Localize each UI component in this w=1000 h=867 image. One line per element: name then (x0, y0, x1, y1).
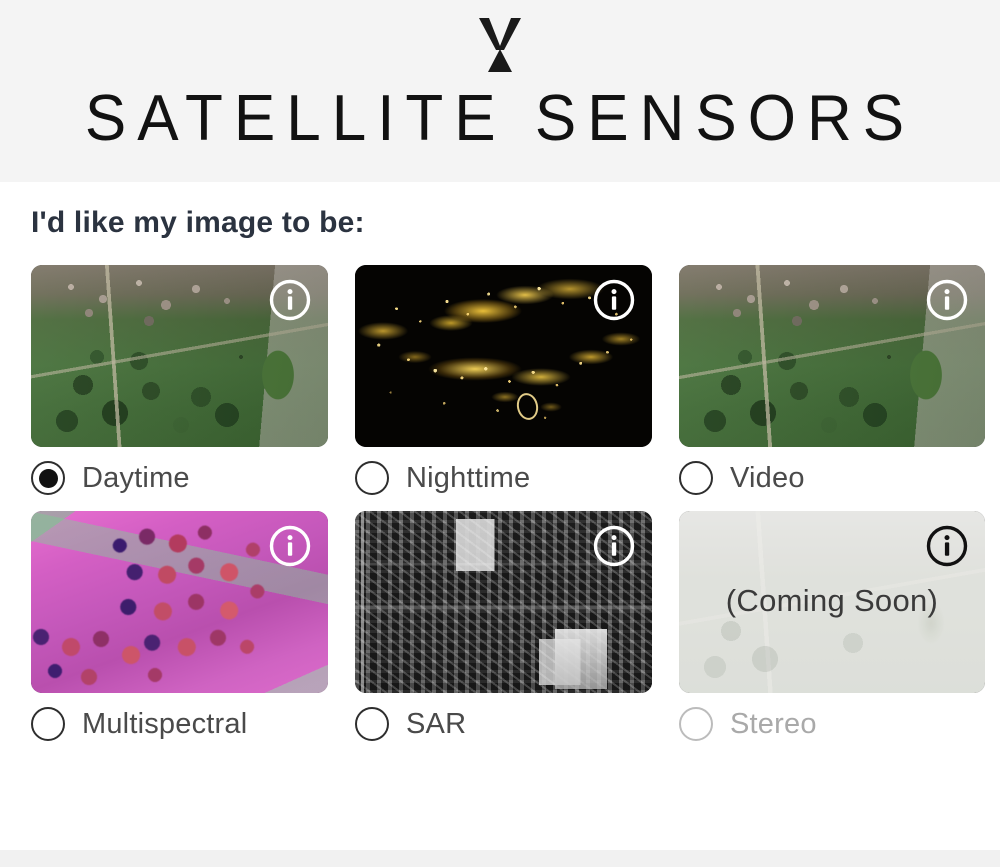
option-label-stereo: Stereo (730, 710, 817, 739)
multispectral-thumbnail[interactable] (31, 511, 328, 693)
option-label-nighttime: Nighttime (406, 464, 530, 493)
sensor-option-daytime[interactable]: Daytime (31, 265, 328, 495)
video-thumbnail[interactable] (679, 265, 985, 447)
option-label-sar: SAR (406, 710, 466, 739)
page-title: SATELLITE SENSORS (85, 86, 915, 151)
option-label-daytime: Daytime (82, 464, 190, 493)
daytime-thumbnail[interactable] (31, 265, 328, 447)
info-icon[interactable] (925, 278, 969, 322)
sensor-option-multispectral[interactable]: Multispectral (31, 511, 328, 741)
coming-soon-label: (Coming Soon) (679, 583, 985, 619)
footer-strip (0, 850, 1000, 867)
app-header: SATELLITE SENSORS (0, 0, 1000, 182)
radio-multispectral[interactable] (31, 707, 65, 741)
radio-row-sar[interactable]: SAR (355, 707, 652, 741)
sensor-option-nighttime[interactable]: Nighttime (355, 265, 652, 495)
info-icon[interactable] (592, 524, 636, 568)
info-icon[interactable] (592, 278, 636, 322)
radio-row-nighttime[interactable]: Nighttime (355, 461, 652, 495)
sensor-options-grid: Daytime Nighttime (31, 265, 969, 741)
hourglass-bowtie-logo-icon (477, 16, 523, 74)
radio-row-multispectral[interactable]: Multispectral (31, 707, 328, 741)
sensor-option-video[interactable]: Video (679, 265, 985, 495)
radio-sar[interactable] (355, 707, 389, 741)
info-icon[interactable] (268, 278, 312, 322)
radio-nighttime[interactable] (355, 461, 389, 495)
nighttime-thumbnail[interactable] (355, 265, 652, 447)
question-heading: I'd like my image to be: (31, 206, 969, 239)
sensor-option-sar[interactable]: SAR (355, 511, 652, 741)
stereo-thumbnail: (Coming Soon) (679, 511, 985, 693)
info-icon[interactable] (268, 524, 312, 568)
sensor-selection-panel: I'd like my image to be: Daytime (0, 182, 1000, 850)
radio-row-daytime[interactable]: Daytime (31, 461, 328, 495)
night-light-ring (514, 391, 540, 422)
radio-daytime[interactable] (31, 461, 65, 495)
radio-row-stereo: Stereo (679, 707, 985, 741)
radio-row-video[interactable]: Video (679, 461, 985, 495)
sar-thumbnail[interactable] (355, 511, 652, 693)
option-label-multispectral: Multispectral (82, 710, 247, 739)
sensor-option-stereo: (Coming Soon) Stereo (679, 511, 985, 741)
option-label-video: Video (730, 464, 805, 493)
info-icon[interactable] (925, 524, 969, 568)
radio-stereo (679, 707, 713, 741)
radio-video[interactable] (679, 461, 713, 495)
